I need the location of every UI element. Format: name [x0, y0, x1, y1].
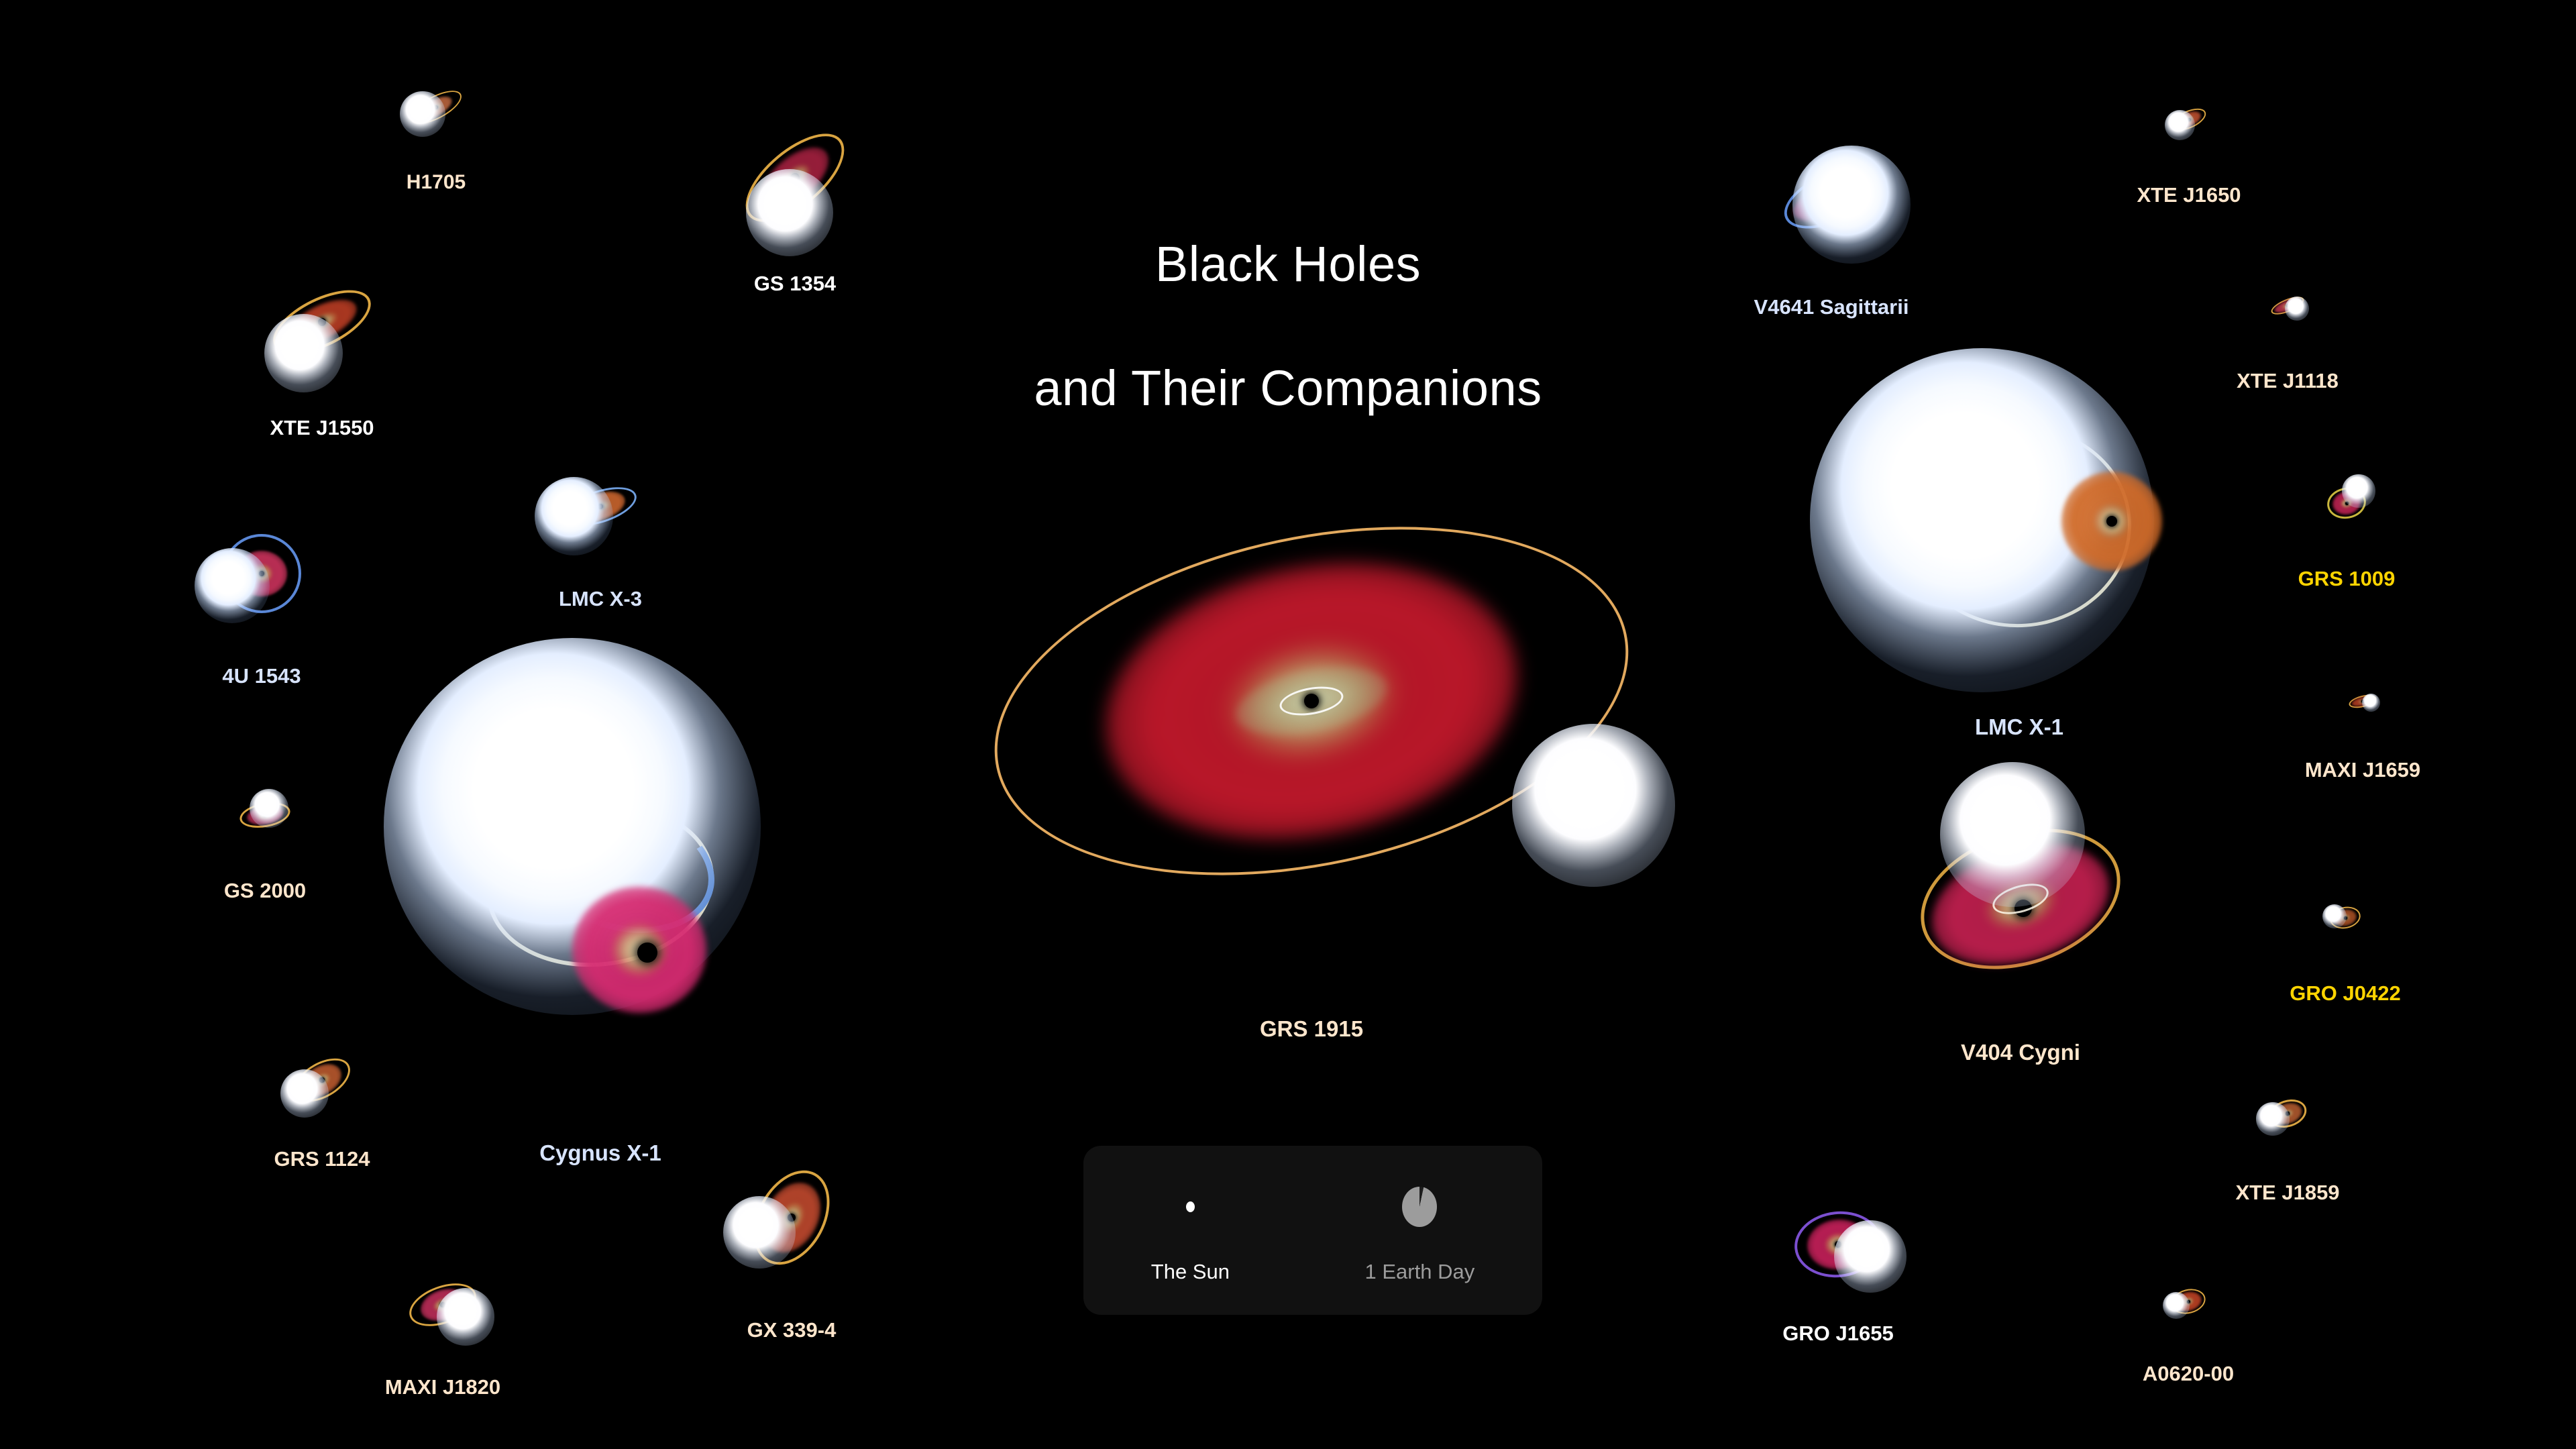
- system-label: LMC X-3: [559, 587, 642, 611]
- system-label: GRS 1915: [1260, 1016, 1363, 1042]
- system-label: A0620-00: [2143, 1362, 2234, 1386]
- system-label: XTE J1550: [270, 416, 374, 440]
- system-label: GS 1354: [754, 272, 836, 296]
- sky-canvas: Black Holes and Their Companions H1705GS…: [0, 0, 2576, 1449]
- system-label: MAXI J1820: [385, 1375, 500, 1399]
- legend-label: The Sun: [1151, 1260, 1230, 1284]
- system-label: MAXI J1659: [2305, 758, 2420, 782]
- system-label: GRO J1655: [1782, 1322, 1893, 1346]
- sun-dot-icon: [1160, 1177, 1220, 1237]
- system-label: V4641 Sagittarii: [1754, 295, 1909, 319]
- system-label: LMC X-1: [1975, 714, 2063, 740]
- system-label: XTE J1118: [2237, 369, 2339, 393]
- legend-label: 1 Earth Day: [1365, 1260, 1475, 1284]
- system-label: 4U 1543: [222, 664, 301, 688]
- title-line-2: and Their Companions: [0, 358, 2576, 420]
- page-title: Black Holes and Their Companions: [0, 171, 2576, 482]
- scale-legend: The Sun1 Earth Day: [1083, 1146, 1542, 1315]
- title-line-1: Black Holes: [1155, 236, 1421, 292]
- system-label: GS 2000: [224, 879, 306, 903]
- legend-item: 1 Earth Day: [1365, 1177, 1475, 1284]
- system-label: GRS 1124: [274, 1147, 370, 1171]
- system-label: XTE J1650: [2137, 183, 2241, 207]
- day-pie-icon: [1389, 1177, 1450, 1237]
- legend-item: The Sun: [1151, 1177, 1230, 1284]
- system-label: GRO J0422: [2290, 981, 2400, 1006]
- system-label: V404 Cygni: [1961, 1040, 2080, 1065]
- system-label: Cygnus X-1: [539, 1140, 661, 1166]
- system-label: XTE J1859: [2235, 1181, 2339, 1205]
- system-label: H1705: [407, 171, 466, 194]
- system-label: GX 339-4: [747, 1318, 837, 1342]
- system-label: GRS 1009: [2298, 567, 2396, 591]
